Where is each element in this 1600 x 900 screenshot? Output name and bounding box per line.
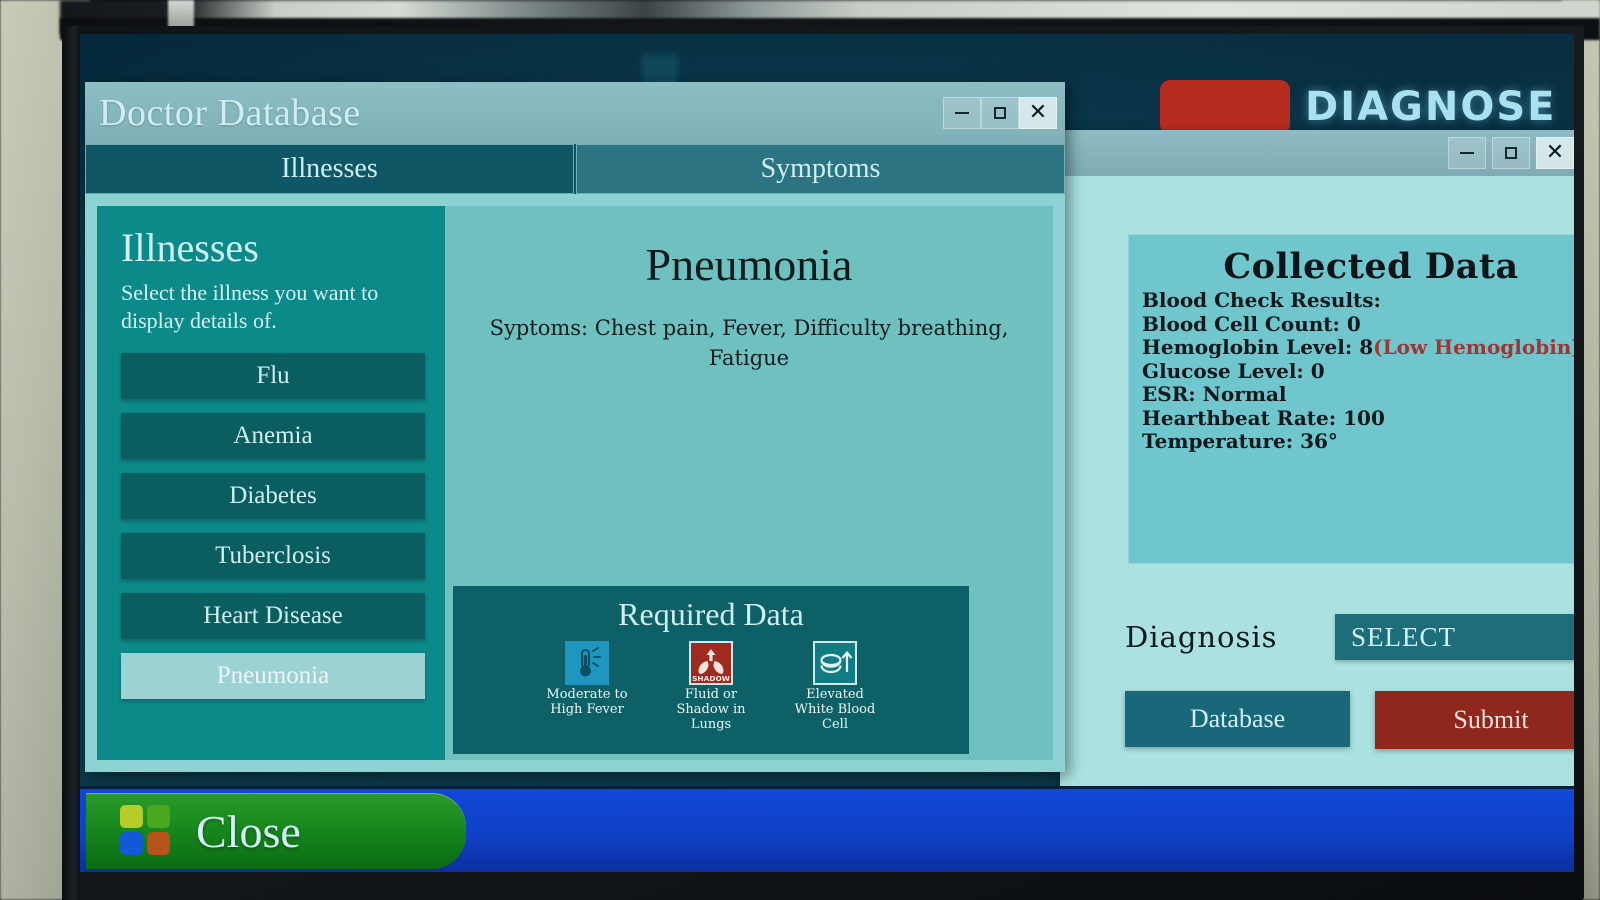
database-button[interactable]: Database	[1125, 691, 1350, 747]
tab-illnesses[interactable]: Illnesses	[85, 144, 574, 194]
illness-detail-panel: Pneumonia Syptoms: Chest pain, Fever, Di…	[445, 206, 1053, 760]
minimize-icon[interactable]	[943, 97, 981, 129]
thermometer-icon	[565, 641, 609, 685]
illness-detail-symptoms: Syptoms: Chest pain, Fever, Difficulty b…	[445, 291, 1053, 373]
diagnose-window-titlebar[interactable]: ✕	[1060, 130, 1574, 176]
collected-data-line: Hemoglobin Level: 8(Low Hemoglobin)	[1142, 336, 1574, 360]
illness-button[interactable]: Flu	[121, 353, 425, 399]
taskbar: Close	[80, 786, 1574, 872]
lungs-shadow-icon: SHADOW	[689, 641, 733, 685]
svg-text:SHADOW: SHADOW	[692, 674, 730, 683]
illness-button[interactable]: Heart Disease	[121, 593, 425, 639]
diagnosis-select-value: SELECT	[1351, 622, 1456, 653]
close-icon[interactable]: ✕	[1536, 137, 1574, 169]
doctor-database-window[interactable]: Doctor Database ✕ Illnesses Symptoms Ill…	[85, 82, 1065, 772]
status-badge: (Low Hemoglobin)	[1373, 335, 1574, 359]
submit-button[interactable]: Submit	[1375, 691, 1574, 749]
required-item-fever: Moderate to High Fever	[539, 641, 635, 732]
illness-panel-instruction: Select the illness you want to display d…	[121, 279, 425, 335]
blood-cell-up-icon	[813, 641, 857, 685]
required-item-label: Moderate to High Fever	[539, 687, 635, 717]
header-red-block	[1160, 80, 1290, 134]
monitor-bezel-left	[62, 26, 80, 900]
collected-data-line: Hearthbeat Rate: 100	[1142, 407, 1574, 431]
diagnose-title: DIAGNOSE	[1305, 84, 1557, 130]
tab-symptoms[interactable]: Symptoms	[576, 144, 1065, 194]
photo-scene: DIAGNOSE ✕ Collected Data Blood Check Re…	[0, 0, 1600, 900]
required-item-label: Fluid or Shadow in Lungs	[663, 687, 759, 732]
collected-data-line: Temperature: 36°	[1142, 430, 1574, 454]
illness-button[interactable]: Diabetes	[121, 473, 425, 519]
collected-data-line: Glucose Level: 0	[1142, 360, 1574, 384]
required-item-lungs: SHADOW Fluid or Shadow in Lungs	[663, 641, 759, 732]
maximize-icon[interactable]	[981, 97, 1019, 129]
doctor-database-titlebar[interactable]: Doctor Database ✕	[85, 82, 1065, 144]
collected-data-line: Blood Check Results:	[1142, 289, 1574, 313]
illness-detail-title: Pneumonia	[445, 206, 1053, 291]
windows-logo-icon	[120, 805, 172, 857]
close-icon[interactable]: ✕	[1019, 97, 1057, 129]
doctor-database-body: Illnesses Select the illness you want to…	[85, 194, 1065, 772]
illness-panel-heading: Illnesses	[121, 224, 425, 271]
required-item-label: Elevated White Blood Cell	[787, 687, 883, 732]
diagnosis-label: Diagnosis	[1125, 620, 1278, 654]
minimize-icon[interactable]	[1448, 137, 1486, 169]
start-button[interactable]: Close	[86, 793, 466, 869]
diagnosis-row: Diagnosis SELECT	[1125, 614, 1574, 660]
required-data-icons: Moderate to High Fever	[453, 633, 969, 732]
collected-data-title: Collected Data	[1128, 234, 1574, 287]
required-item-wbc: Elevated White Blood Cell	[787, 641, 883, 732]
diagnosis-select[interactable]: SELECT	[1335, 614, 1574, 660]
collected-data-line: Blood Cell Count: 0	[1142, 313, 1574, 337]
collected-data-lines: Blood Check Results:Blood Cell Count: 0H…	[1128, 287, 1574, 454]
illness-button-list: FluAnemiaDiabetesTuberclosisHeart Diseas…	[121, 353, 425, 699]
start-button-label: Close	[196, 805, 301, 858]
diagnose-app-header: DIAGNOSE	[1075, 56, 1535, 136]
diagnose-actions: Database Submit	[1125, 691, 1574, 747]
illness-button[interactable]: Anemia	[121, 413, 425, 459]
collected-data-card: Collected Data Blood Check Results:Blood…	[1128, 234, 1574, 564]
page-title: Doctor Database	[99, 91, 943, 135]
illness-button[interactable]: Tuberclosis	[121, 533, 425, 579]
required-data-card: Required Data	[453, 586, 969, 754]
game-screen: DIAGNOSE ✕ Collected Data Blood Check Re…	[80, 34, 1574, 872]
required-data-title: Required Data	[453, 586, 969, 633]
illness-button[interactable]: Pneumonia	[121, 653, 425, 699]
tab-bar: Illnesses Symptoms	[85, 144, 1065, 194]
collected-data-line: ESR: Normal	[1142, 383, 1574, 407]
maximize-icon[interactable]	[1492, 137, 1530, 169]
illness-list-panel: Illnesses Select the illness you want to…	[97, 206, 445, 760]
